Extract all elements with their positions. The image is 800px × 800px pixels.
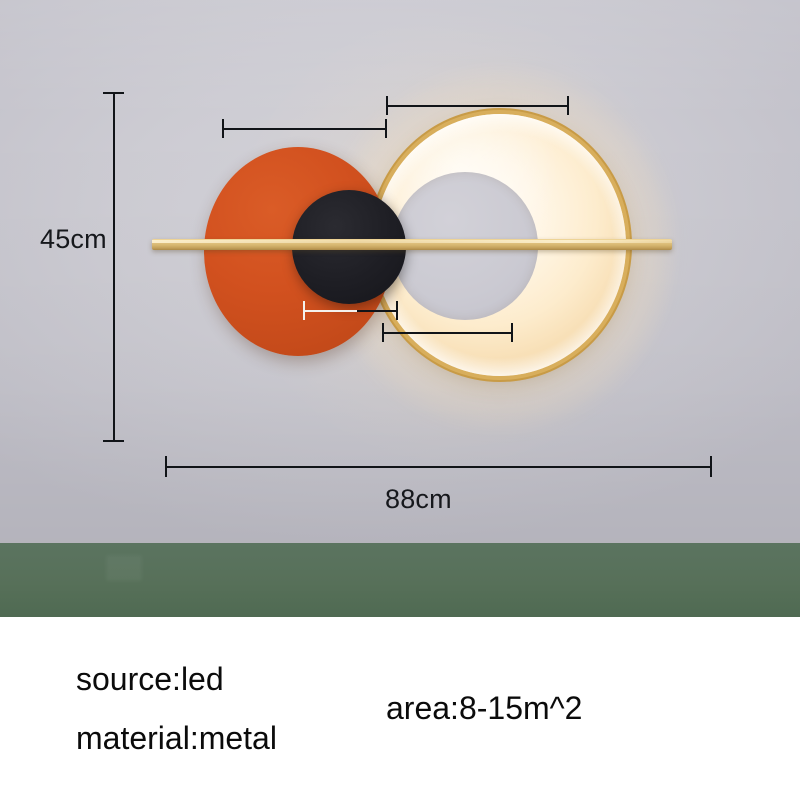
height-dimension-line [113,92,115,440]
guide-line-ring-top [386,105,568,107]
width-dimension-line [165,466,712,468]
spec-area: area:8-15m^2 [386,690,582,727]
height-dimension-label: 45cm [40,224,107,255]
guide-line-black-bottom-light [303,310,358,312]
height-dimension-cap-top [103,92,124,94]
guide-cap-orange-top-right [385,119,387,138]
guide-line-orange-top [222,128,386,130]
product-image: 45cm 88cm source:led material:metal area… [0,0,800,800]
width-dimension-label: 88cm [385,484,452,515]
guide-cap-ring-top-left [386,96,388,115]
green-divider-band [0,543,800,617]
guide-cap-hole-bottom-left [382,323,384,342]
spec-source: source:led [76,661,224,698]
guide-cap-hole-bottom-right [511,323,513,342]
height-dimension-cap-bottom [103,440,124,442]
spec-material: material:metal [76,720,277,757]
guide-cap-orange-top-left [222,119,224,138]
width-dimension-cap-left [165,456,167,477]
gold-bar [152,239,672,250]
guide-cap-black-bottom-right [396,301,398,320]
guide-cap-ring-top-right [567,96,569,115]
gold-bar-highlight [152,240,672,243]
guide-cap-black-bottom-left [303,301,305,320]
guide-line-hole-bottom [382,332,512,334]
lamp-photo: 45cm 88cm [0,0,800,543]
green-band-watermark [106,555,142,581]
spec-panel: source:led material:metal area:8-15m^2 [0,617,800,800]
guide-line-black-bottom-dark [357,310,397,312]
width-dimension-cap-right [710,456,712,477]
